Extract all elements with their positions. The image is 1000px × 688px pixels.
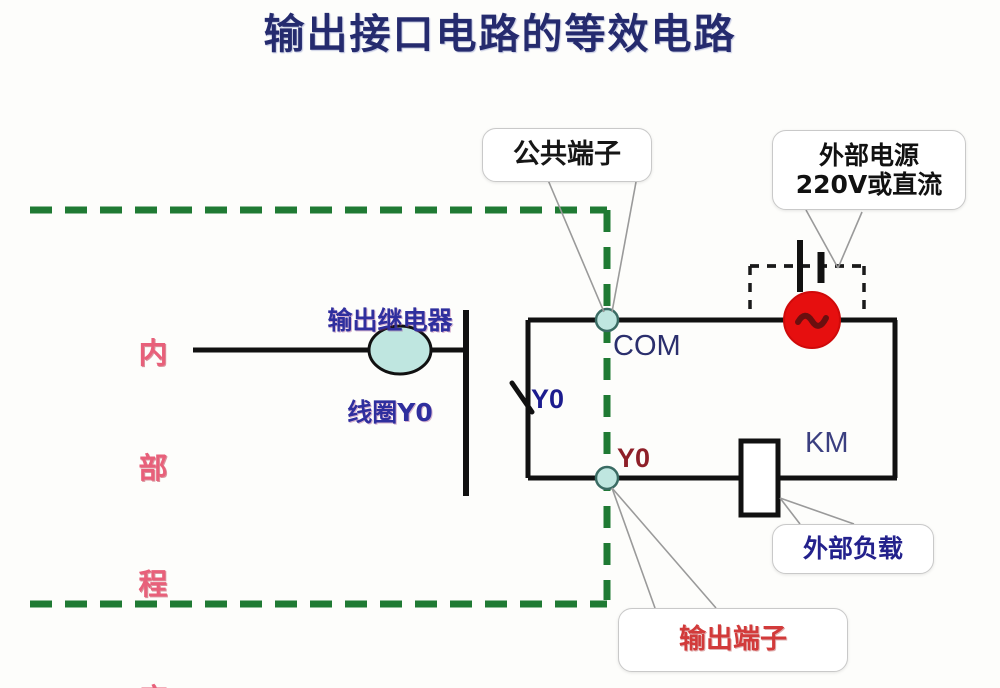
callout-common-terminal[interactable]: 公共端子 [482,128,652,182]
callout-external-load-text: 外部负载 [803,534,903,564]
output-circuit [512,240,897,515]
leader-common-b [612,182,636,312]
terminal-node-icon[interactable] [596,309,618,331]
callout-external-power-line2: 220V或直流 [796,170,943,200]
relay-coil-label-line1: 输出继电器 [275,306,505,337]
leader-output-b [612,488,716,608]
internal-program-char-2: 部 [133,452,173,484]
leader-output-a [612,488,655,608]
internal-program-label: 内 部 程 序 [133,272,173,688]
diagram-canvas: 输出接口电路的等效电路 [0,0,1000,688]
relay-coil-label-line2: 线圈Y0 [275,398,505,429]
internal-program-char-3: 程 [133,568,173,600]
callout-external-load[interactable]: 外部负载 [772,524,934,574]
common-terminal-label: COM [613,330,681,362]
contactor-label: KM [805,427,849,459]
leader-common-a [548,180,604,312]
callout-external-power[interactable]: 外部电源 220V或直流 [772,130,966,210]
load-block-icon [741,441,778,515]
callout-external-power-text: 外部电源 220V或直流 [796,141,943,200]
terminal-node-icon[interactable] [596,467,618,489]
output-switch-label: Y0 [531,384,564,414]
leader-power-b [838,212,862,268]
callout-output-terminal[interactable]: 输出端子 [618,608,848,672]
relay-coil-label: 输出继电器 线圈Y0 [275,245,505,489]
callout-external-power-line1: 外部电源 [796,141,943,171]
leader-load-b [780,498,854,524]
callout-output-terminal-text: 输出端子 [679,624,787,656]
callout-common-terminal-text: 公共端子 [513,139,621,171]
output-terminal-label: Y0 [617,443,650,473]
internal-program-char-1: 内 [133,337,173,369]
internal-program-char-4: 序 [133,683,173,688]
